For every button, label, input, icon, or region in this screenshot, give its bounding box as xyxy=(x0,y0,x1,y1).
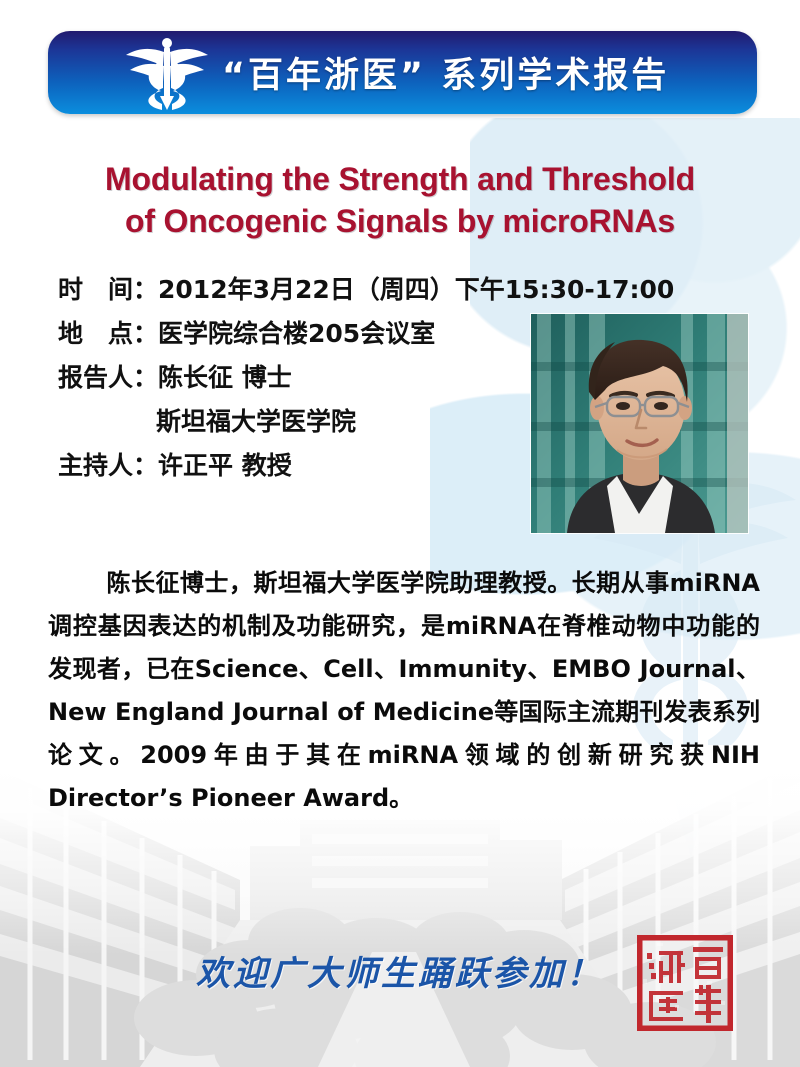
banner-title: “百年浙医” 系列学术报告 xyxy=(222,47,669,98)
header-banner: “百年浙医” 系列学术报告 xyxy=(48,31,757,114)
caduceus-icon xyxy=(120,36,216,110)
title-line-1: Modulating the Strength and Threshold xyxy=(0,158,800,200)
host-label: 主持人： xyxy=(58,451,158,480)
detail-row-host: 主持人：许正平 教授 xyxy=(58,444,558,488)
detail-row-place: 地 点：医学院综合楼205会议室 xyxy=(58,312,558,356)
title-line-2: of Oncogenic Signals by microRNAs xyxy=(0,200,800,242)
event-details: 时 间：2012年3月22日（周四）下午15:30-17:00 地 点：医学院综… xyxy=(58,268,558,488)
detail-row-speaker: 报告人：陈长征 博士 xyxy=(58,356,558,400)
welcome-slogan: 欢迎广大师生踊跃参加！ xyxy=(196,946,603,995)
host-value: 许正平 教授 xyxy=(158,451,292,480)
red-seal-stamp xyxy=(637,935,733,1031)
detail-row-affiliation: 斯坦福大学医学院 xyxy=(58,400,558,444)
poster-root: “百年浙医” 系列学术报告 Modulating the Strength an… xyxy=(0,0,800,1067)
time-value: 2012年3月22日（周四）下午15:30-17:00 xyxy=(158,275,674,304)
speaker-bio: 陈长征博士，斯坦福大学医学院助理教授。长期从事miRNA调控基因表达的机制及功能… xyxy=(48,562,760,820)
place-value: 医学院综合楼205会议室 xyxy=(158,319,435,348)
time-label: 时 间： xyxy=(58,275,158,304)
speaker-value: 陈长征 博士 xyxy=(158,363,292,392)
speaker-label: 报告人： xyxy=(58,363,158,392)
page-title: Modulating the Strength and Threshold of… xyxy=(0,158,800,242)
speaker-affiliation: 斯坦福大学医学院 xyxy=(156,407,356,436)
speaker-portrait-photo xyxy=(531,314,748,533)
bio-text: 陈长征博士，斯坦福大学医学院助理教授。长期从事miRNA调控基因表达的机制及功能… xyxy=(48,569,760,812)
detail-row-time: 时 间：2012年3月22日（周四）下午15:30-17:00 xyxy=(58,268,558,312)
place-label: 地 点： xyxy=(58,319,158,348)
